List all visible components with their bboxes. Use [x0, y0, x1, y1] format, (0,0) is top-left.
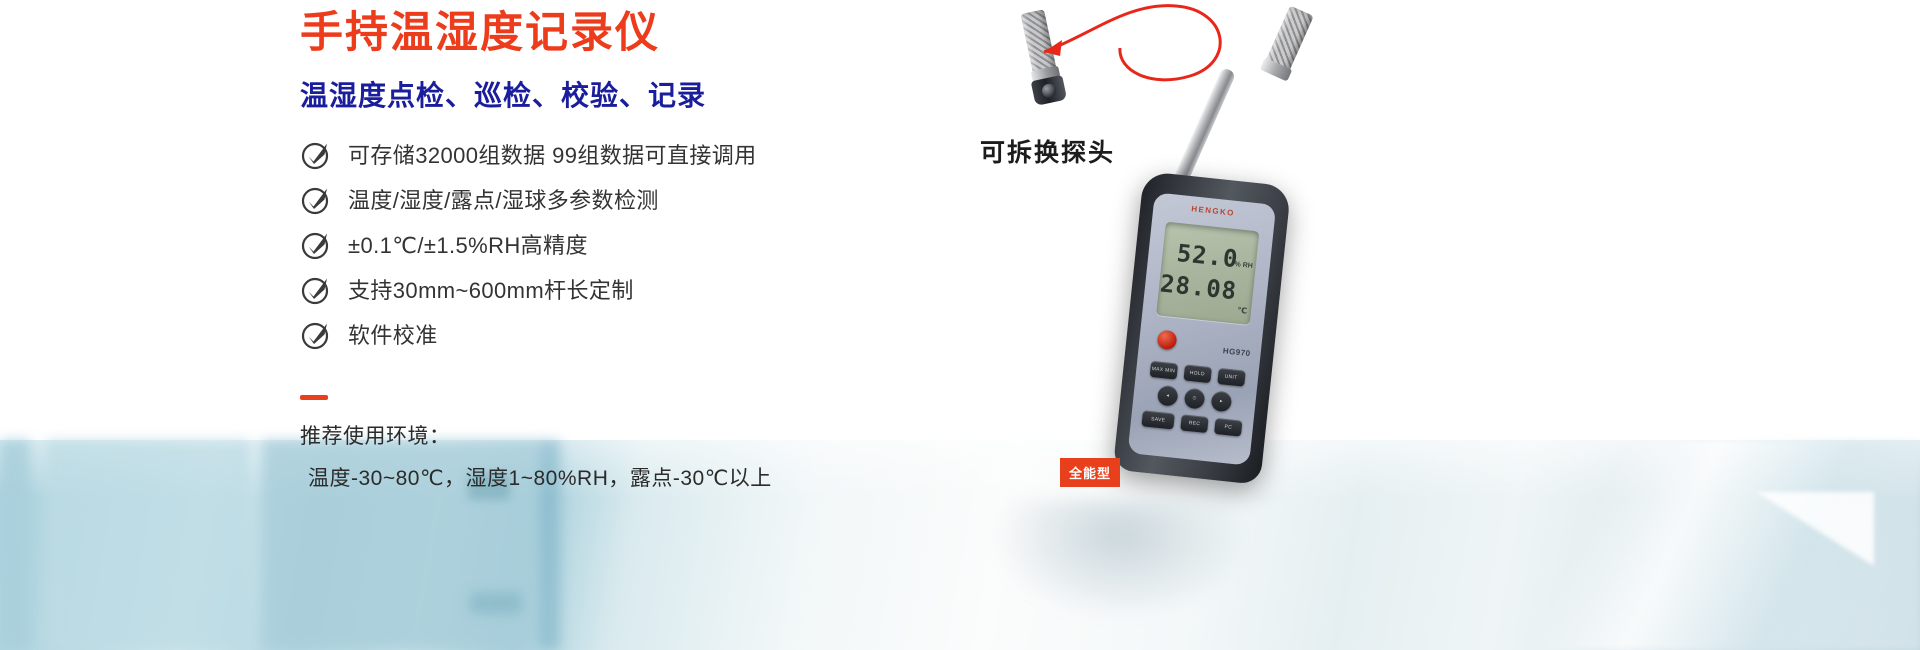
product-image: HENGKO 52.0 % RH 28.08 ℃ HG970 MAX MIN H… — [940, 0, 1360, 540]
keypad-row: MAX MIN HOLD UNIT — [1146, 360, 1249, 387]
timer-key[interactable]: ⏱ — [1184, 388, 1206, 410]
rec-key[interactable]: REC — [1180, 414, 1209, 433]
list-item: 可存储32000组数据 99组数据可直接调用 — [300, 131, 757, 176]
save-key[interactable]: SAVE — [1141, 410, 1174, 429]
feature-text: 支持30mm~600mm杆长定制 — [348, 273, 634, 305]
list-item: ±0.1℃/±1.5%RH高精度 — [300, 221, 757, 266]
check-circle-icon — [300, 137, 334, 171]
feature-text: 温度/湿度/露点/湿球多参数检测 — [348, 183, 659, 215]
right-arrow-key[interactable]: ▸ — [1210, 390, 1232, 412]
brand-logo: HENGKO — [1191, 204, 1235, 217]
humidity-reading: 52.0 — [1175, 239, 1239, 273]
check-circle-icon — [300, 317, 334, 351]
temperature-reading: 28.08 — [1159, 269, 1239, 305]
background-light-wedge — [1756, 492, 1874, 566]
unit-key[interactable]: UNIT — [1217, 368, 1246, 387]
check-circle-icon — [300, 227, 334, 261]
page-title: 手持温湿度记录仪 — [300, 8, 660, 60]
feature-text: ±0.1℃/±1.5%RH高精度 — [348, 228, 588, 260]
page-subtitle: 温湿度点检、巡检、校验、记录 — [300, 78, 706, 114]
max-min-key[interactable]: MAX MIN — [1149, 361, 1178, 380]
power-button[interactable] — [1157, 329, 1178, 350]
product-banner: 手持温湿度记录仪 温湿度点检、巡检、校验、记录 可存储32000组数据 99组数… — [0, 0, 1920, 650]
keypad-row: ◂ ⏱ ▸ — [1143, 383, 1247, 414]
temperature-unit: ℃ — [1237, 306, 1248, 316]
list-item: 支持30mm~600mm杆长定制 — [300, 266, 757, 311]
feature-text: 可存储32000组数据 99组数据可直接调用 — [348, 138, 757, 170]
background-panel-lower — [470, 592, 522, 614]
feature-list: 可存储32000组数据 99组数据可直接调用 温度/湿度/露点/湿球多参数检测 … — [300, 131, 757, 356]
section-divider-dash — [300, 395, 328, 400]
environment-title: 推荐使用环境： — [300, 420, 772, 450]
status-badge: 全能型 — [1060, 458, 1120, 487]
left-arrow-key[interactable]: ◂ — [1157, 385, 1179, 407]
pc-key[interactable]: PC — [1214, 418, 1243, 437]
list-item: 软件校准 — [300, 311, 757, 356]
feature-text: 软件校准 — [348, 318, 438, 350]
product-shadow — [990, 500, 1250, 620]
environment-values: 温度-30~80℃，湿度1~80%RH，露点-30℃以上 — [300, 462, 772, 492]
check-circle-icon — [300, 182, 334, 216]
list-item: 温度/湿度/露点/湿球多参数检测 — [300, 176, 757, 221]
handheld-meter: HENGKO 52.0 % RH 28.08 ℃ HG970 MAX MIN H… — [1113, 171, 1292, 485]
check-circle-icon — [300, 272, 334, 306]
hold-key[interactable]: HOLD — [1183, 364, 1212, 383]
keypad-row: SAVE REC PC — [1140, 410, 1243, 437]
lcd-display: 52.0 % RH 28.08 ℃ — [1156, 222, 1259, 325]
model-number: HG970 — [1222, 346, 1251, 358]
keypad: MAX MIN HOLD UNIT ◂ ⏱ ▸ SAVE REC PC — [1140, 360, 1249, 443]
environment-block: 推荐使用环境： 温度-30~80℃，湿度1~80%RH，露点-30℃以上 — [300, 420, 772, 492]
